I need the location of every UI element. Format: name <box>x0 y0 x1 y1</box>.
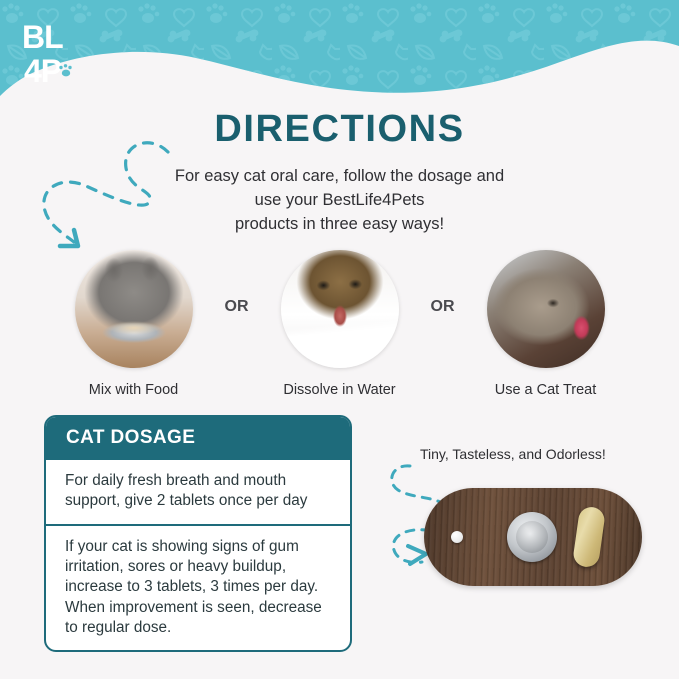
method-image-use-a-cat-treat <box>487 250 605 368</box>
top-banner: BL 4P <box>0 0 679 120</box>
method-label: Dissolve in Water <box>265 382 415 398</box>
dime-coin <box>507 512 557 562</box>
decorative-dashed-arrow-left <box>30 138 180 263</box>
or-separator-2: OR <box>415 250 471 316</box>
brand-logo: BL 4P <box>22 18 84 90</box>
method-dissolve-in-water[interactable]: Dissolve in Water <box>265 250 415 398</box>
tablet-size-panel: Tiny, Tasteless, and Odorless! <box>382 446 662 606</box>
or-separator-1: OR <box>209 250 265 316</box>
small-tablet <box>451 531 463 543</box>
methods-row: Mix with Food OR Dissolve in Water OR Us… <box>0 250 679 398</box>
cat-dosage-card: CAT DOSAGE For daily fresh breath and mo… <box>44 415 352 652</box>
method-image-mix-with-food <box>75 250 193 368</box>
wooden-board <box>424 488 642 586</box>
method-image-dissolve-in-water <box>281 250 399 368</box>
method-label: Use a Cat Treat <box>471 382 621 398</box>
svg-text:BL: BL <box>22 19 63 55</box>
svg-text:4P: 4P <box>24 53 62 89</box>
dosage-daily-instruction: For daily fresh breath and mouth support… <box>46 460 350 524</box>
capsule-pill <box>572 505 606 568</box>
method-label: Mix with Food <box>59 382 209 398</box>
method-use-a-cat-treat[interactable]: Use a Cat Treat <box>471 250 621 398</box>
method-mix-with-food[interactable]: Mix with Food <box>59 250 209 398</box>
cat-dosage-header: CAT DOSAGE <box>46 417 350 460</box>
dosage-increased-instruction: If your cat is showing signs of gum irri… <box>46 524 350 651</box>
